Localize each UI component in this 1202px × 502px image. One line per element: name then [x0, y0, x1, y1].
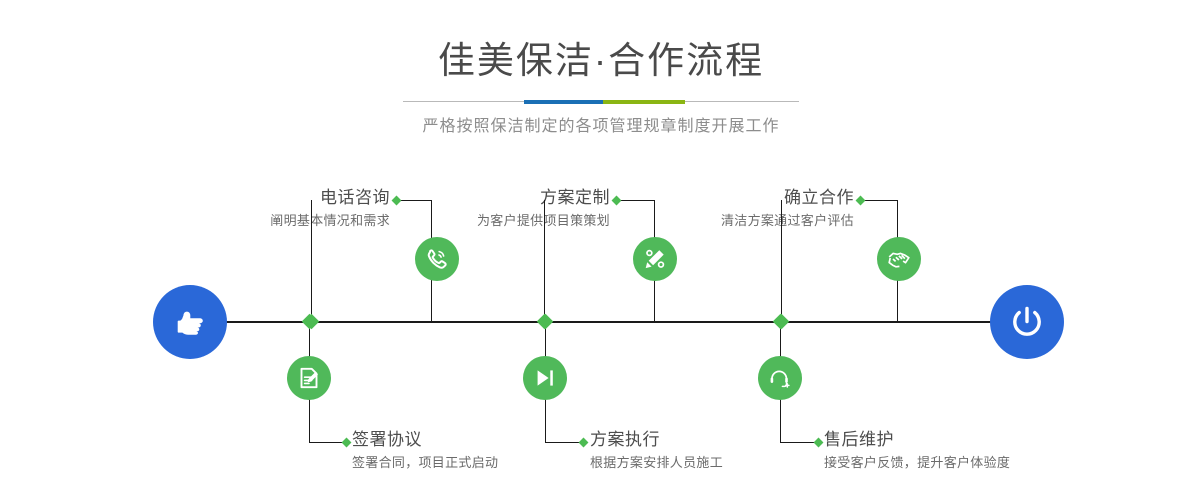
timeline-end-node [990, 285, 1064, 359]
pencil-ruler-icon [642, 246, 668, 272]
step-icon-cooperation[interactable] [877, 237, 921, 281]
step-title-6: 售后维护 [824, 428, 1084, 452]
label-marker-step-5 [856, 196, 866, 206]
connector-vertical-step-3 [544, 200, 545, 322]
step-desc-6: 接受客户反馈，提升客户体验度 [824, 452, 1084, 474]
step-icon-phone[interactable] [415, 237, 459, 281]
phone-call-icon [424, 246, 450, 272]
step-desc-3: 为客户提供项目策策划 [390, 210, 610, 232]
step-desc-2: 签署合同，项目正式启动 [352, 452, 602, 474]
timeline-start-node [153, 285, 227, 359]
step-label-6: 售后维护 接受客户反馈，提升客户体验度 [824, 428, 1084, 474]
step-icon-support[interactable] [758, 356, 802, 400]
pointing-hand-icon [170, 302, 210, 342]
connector-horizontal-step-3 [616, 200, 655, 201]
timeline-axis [155, 321, 1030, 323]
step-title-4: 方案执行 [590, 428, 840, 452]
play-execute-icon [532, 365, 558, 391]
step-title-3: 方案定制 [390, 186, 610, 210]
label-marker-step-3 [612, 196, 622, 206]
axis-marker-step-2 [302, 314, 318, 330]
step-desc-1: 阐明基本情况和需求 [160, 210, 390, 232]
step-desc-5: 清洁方案通过客户评估 [640, 210, 854, 232]
step-desc-4: 根据方案安排人员施工 [590, 452, 840, 474]
handshake-icon [886, 246, 912, 272]
step-title-2: 签署协议 [352, 428, 602, 452]
step-title-1: 电话咨询 [160, 186, 390, 210]
step-icon-agreement[interactable] [287, 356, 331, 400]
step-label-4: 方案执行 根据方案安排人员施工 [590, 428, 840, 474]
connector-vertical-step-5 [781, 200, 782, 322]
step-icon-execute[interactable] [523, 356, 567, 400]
document-edit-icon [296, 365, 322, 391]
label-marker-step-2 [342, 438, 352, 448]
step-icon-design[interactable] [633, 237, 677, 281]
step-label-5: 确立合作 清洁方案通过客户评估 [640, 186, 854, 232]
axis-marker-step-6 [773, 314, 789, 330]
step-title-5: 确立合作 [640, 186, 854, 210]
step-label-2: 签署协议 签署合同，项目正式启动 [352, 428, 602, 474]
axis-marker-step-4 [538, 314, 554, 330]
power-icon [1006, 301, 1048, 343]
process-timeline: 电话咨询 阐明基本情况和需求 签署协议 签署合同，项目正式启动 [0, 0, 1202, 502]
connector-vertical-step-1 [311, 200, 312, 322]
step-label-3: 方案定制 为客户提供项目策策划 [390, 186, 610, 232]
step-label-1: 电话咨询 阐明基本情况和需求 [160, 186, 390, 232]
headset-support-icon [767, 365, 793, 391]
